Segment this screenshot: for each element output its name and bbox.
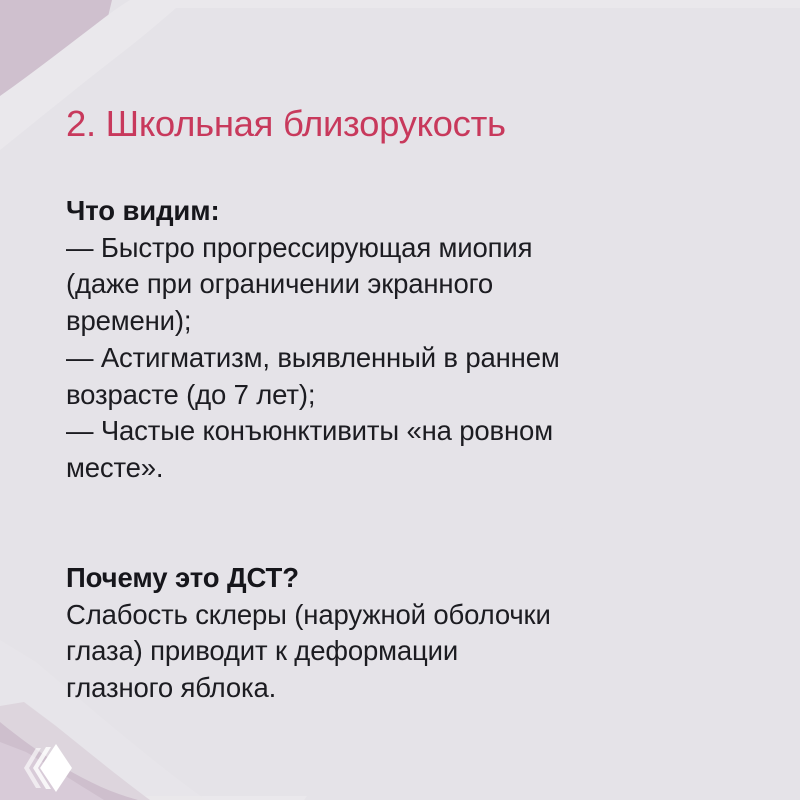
logo-chevron-outer-icon xyxy=(24,748,41,788)
slide-content: 2. Школьная близорукость Что видим: — Бы… xyxy=(0,0,800,800)
page-title: 2. Школьная близорукость xyxy=(66,104,506,145)
section-body-what-we-see: — Быстро прогрессирующая миопия (даже пр… xyxy=(66,230,766,487)
section-what-we-see: Что видим: — Быстро прогрессирующая миоп… xyxy=(66,193,766,487)
section-heading-why-dst: Почему это ДСТ? xyxy=(66,560,766,596)
slide-card: 2. Школьная близорукость Что видим: — Бы… xyxy=(0,0,800,800)
section-why-dst: Почему это ДСТ? Слабость склеры (наружно… xyxy=(66,560,766,707)
section-body-why-dst: Слабость склеры (наружной оболочки глаза… xyxy=(66,597,766,707)
brand-logo-icon xyxy=(22,742,78,794)
section-heading-what-we-see: Что видим: xyxy=(66,193,766,229)
